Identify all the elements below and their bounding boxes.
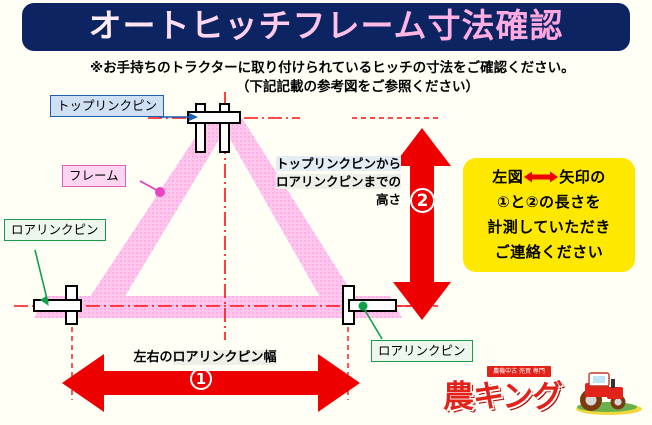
callout-lower-link-pin-right[interactable]: ロアリンクピン xyxy=(371,340,473,362)
callout-frame[interactable]: フレーム xyxy=(62,165,126,187)
instruction-box: 左図矢印の ①と②の長さを 計測していただき ご連絡ください xyxy=(463,158,635,272)
diagram-page: オートヒッチフレーム寸法確認 ※お手持ちのトラクターに取り付けられているヒッチの… xyxy=(0,0,652,425)
leader-frame xyxy=(140,181,165,197)
top-link-pin-assembly xyxy=(188,104,240,152)
lower-link-pin-left xyxy=(34,286,81,324)
width-label-main: ロアリンクピン幅 xyxy=(173,350,277,365)
height-label-line-1: トップリンクピンから xyxy=(276,156,401,171)
instruction-line-1: 左図矢印の xyxy=(467,165,631,190)
dimension-number-1: 1 xyxy=(190,368,212,390)
subtitle-line-2: （下記記載の参考図をご参照ください） xyxy=(236,75,479,95)
frame-shape xyxy=(34,118,402,318)
width-label-prefix: 左右の xyxy=(133,350,172,365)
instruction-line-2: ①と②の長さを xyxy=(467,190,631,215)
height-label-line-3: 高さ xyxy=(376,192,401,207)
logo-wordmark: 農キング xyxy=(443,371,562,416)
leader-lower-link-pin-left xyxy=(35,250,49,306)
callout-lower-link-pin-left[interactable]: ロアリンクピン xyxy=(4,219,106,241)
height-measurement-label: トップリンクピンから ロアリンクピンまでの 高さ xyxy=(271,155,401,209)
centerlines xyxy=(14,92,420,340)
tractor-icon xyxy=(571,367,643,415)
width-measurement-label: 左右のロアリンクピン幅 xyxy=(90,346,320,365)
leader-lower-link-pin-right xyxy=(359,302,383,340)
dimension-number-2: 2 xyxy=(410,188,435,213)
lower-link-pin-right xyxy=(343,286,396,324)
page-title: オートヒッチフレーム寸法確認 xyxy=(22,3,630,51)
leader-top-link-pin xyxy=(159,113,198,121)
double-arrow-icon xyxy=(524,166,558,178)
instruction-line-3: 計測していただき xyxy=(467,215,631,240)
height-label-line-2: ロアリンクピンまでの xyxy=(276,174,401,189)
title-bar: オートヒッチフレーム寸法確認 xyxy=(22,3,630,51)
brand-logo[interactable]: 農機中古 売買 専門 農キング xyxy=(443,365,643,417)
subtitle-line-1: ※お手持ちのトラクターに取り付けられているヒッチの寸法をご確認ください。 xyxy=(90,56,575,76)
callout-top-link-pin[interactable]: トップリンクピン xyxy=(50,95,164,117)
instruction-line-1-prefix: 左図 xyxy=(492,168,523,186)
instruction-line-1-suffix: 矢印の xyxy=(559,168,606,186)
instruction-line-4: ご連絡ください xyxy=(467,240,631,265)
height-dimension-arrow xyxy=(393,128,451,320)
